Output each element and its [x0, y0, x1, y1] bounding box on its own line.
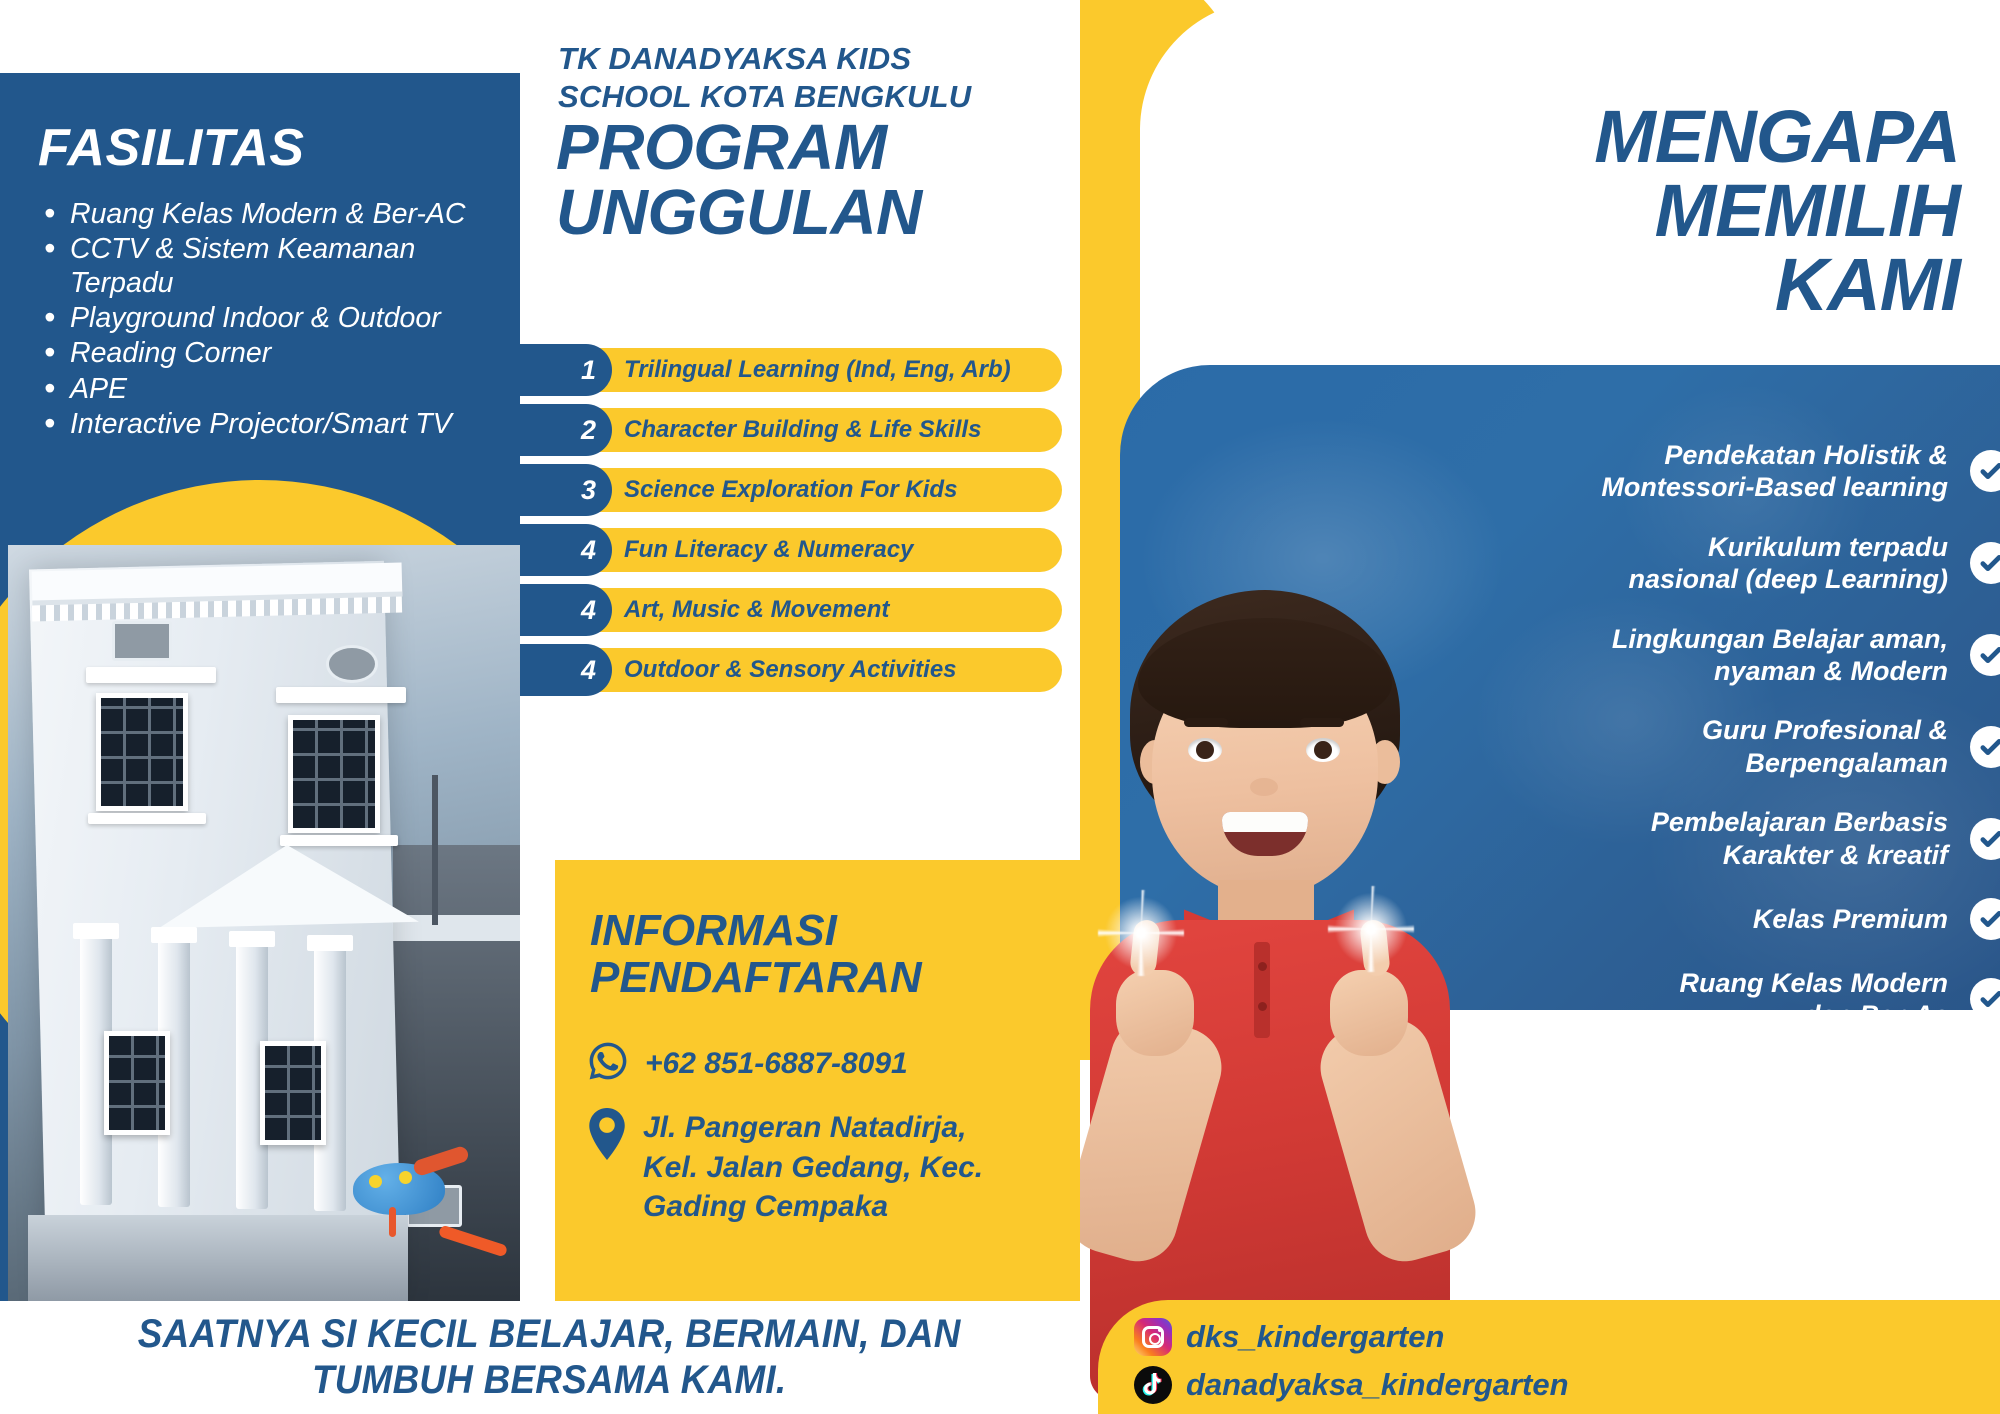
benefit-text: Ruang Kelas Modern dan Ber-Ac [1679, 967, 1948, 1010]
program-title-line-2: UNGGULAN [556, 180, 1076, 245]
address-row[interactable]: Jl. Pangeran Natadirja, Kel. Jalan Gedan… [587, 1108, 983, 1227]
child-teeth [1222, 812, 1308, 832]
address-line-2: Kel. Jalan Gedang, Kec. [643, 1151, 983, 1184]
child-hand-right [1330, 970, 1408, 1056]
benefit-text: Guru Profesional & Berpengalaman [1702, 714, 1948, 779]
phone-number: +62 851-6887-8091 [645, 1044, 908, 1084]
program-label: Character Building & Life Skills [624, 408, 981, 452]
why-title-line-3: KAMI [1160, 248, 1960, 322]
photo-pole [432, 775, 438, 925]
photo-window-sill-1 [88, 813, 206, 824]
photo-pediment [157, 842, 419, 928]
program-label: Fun Literacy & Numeracy [624, 528, 913, 572]
info-title-line-2: PENDAFTARAN [590, 955, 990, 1002]
child-eye-right [1306, 738, 1340, 762]
location-pin-icon [587, 1108, 627, 1165]
child-photo [1080, 590, 1570, 1400]
benefit-text: Kelas Premium [1753, 903, 1948, 935]
check-circle-icon [1970, 898, 2000, 940]
check-circle-icon [1970, 450, 2000, 492]
benefit-line-2: nyaman & Modern [1612, 655, 1948, 687]
benefit-text: Pembelajaran Berbasis Karakter & kreatif [1651, 806, 1948, 871]
program-number: 3 [520, 464, 612, 516]
program-number: 4 [520, 644, 612, 696]
photo-ac-unit-upper-left [112, 621, 172, 661]
address-line-3: Gading Cempaka [643, 1190, 888, 1223]
child-brow-left [1184, 718, 1228, 727]
address-line-1: Jl. Pangeran Natadirja, [643, 1111, 966, 1144]
school-name: TK DANADYAKSA KIDS SCHOOL KOTA BENGKULU [558, 40, 1028, 116]
benefit-text: Pendekatan Holistik & Montessori-Based l… [1601, 439, 1948, 504]
info-title-line-1: INFORMASI [590, 908, 990, 955]
photo-window-1 [96, 693, 188, 811]
photo-window-lintel-2 [276, 687, 406, 703]
child-shirt-button-1 [1258, 962, 1267, 971]
check-circle-icon [1970, 978, 2000, 1010]
program-row[interactable]: 4 Outdoor & Sensory Activities [520, 648, 1080, 692]
toy-dot-2 [399, 1171, 412, 1184]
program-title-line-1: PROGRAM [556, 115, 1076, 180]
child-eye-left [1188, 738, 1222, 762]
photo-column-capital-1 [73, 923, 119, 939]
program-row[interactable]: 2 Character Building & Life Skills [520, 408, 1080, 452]
social-media-bar: dks_kindergarten danadyaksa_kindergarten [1098, 1300, 2000, 1414]
benefit-row: Kurikulum terpadu nasional (deep Learnin… [1452, 531, 2000, 596]
toy-dot-1 [369, 1175, 382, 1188]
photo-ground-floor [28, 1215, 408, 1301]
child-nose [1250, 778, 1278, 796]
program-label: Science Exploration For Kids [624, 468, 957, 512]
photo-window-3 [104, 1031, 170, 1135]
program-number: 4 [520, 584, 612, 636]
why-choose-us-title: MENGAPA MEMILIH KAMI [1160, 100, 1960, 322]
instagram-icon [1134, 1318, 1172, 1356]
bottom-tagline-bar: SAATNYA SI KECIL BELAJAR, BERMAIN, DAN T… [0, 1301, 1098, 1414]
school-name-line-1: TK DANADYAKSA KIDS [558, 40, 1028, 78]
benefit-text: Kurikulum terpadu nasional (deep Learnin… [1628, 531, 1948, 596]
program-label: Art, Music & Movement [624, 588, 889, 632]
instagram-row[interactable]: dks_kindergarten [1134, 1318, 1444, 1356]
program-number: 2 [520, 404, 612, 456]
facility-item: Playground Indoor & Outdoor [38, 302, 490, 335]
tagline-line-2: TUMBUH BERSAMA KAMI. [138, 1358, 961, 1404]
facility-item: Interactive Projector/Smart TV [38, 408, 490, 441]
photo-window-2 [288, 715, 380, 833]
benefit-line-2: Berpengalaman [1702, 747, 1948, 779]
right-column: MENGAPA MEMILIH KAMI Pendekatan Holistik… [1080, 0, 2000, 1414]
phone-row[interactable]: +62 851-6887-8091 [587, 1040, 908, 1087]
program-row[interactable]: 4 Art, Music & Movement [520, 588, 1080, 632]
sparkle-left-icon [1098, 890, 1184, 976]
benefit-line-1: Lingkungan Belajar aman, [1612, 623, 1948, 655]
tiktok-handle: danadyaksa_kindergarten [1186, 1367, 1569, 1403]
sparkle-right-icon [1328, 886, 1414, 972]
check-circle-icon [1970, 542, 2000, 584]
why-title-line-1: MENGAPA [1160, 100, 1960, 174]
benefit-row: Pendekatan Holistik & Montessori-Based l… [1452, 439, 2000, 504]
photo-column-capital-3 [229, 931, 275, 947]
photo-window-lintel-1 [86, 667, 216, 683]
benefit-line-1: Guru Profesional & [1702, 714, 1948, 746]
child-shirt-button-2 [1258, 1002, 1267, 1011]
child-hand-left [1116, 970, 1194, 1056]
toy-stick [389, 1207, 396, 1237]
program-list: 1 Trilingual Learning (Ind, Eng, Arb) 2 … [520, 348, 1080, 708]
facilities-block: FASILITAS Ruang Kelas Modern & Ber-AC CC… [0, 73, 520, 443]
photo-column-capital-4 [307, 935, 353, 951]
benefit-line-2: Montessori-Based learning [1601, 471, 1948, 503]
facility-item: CCTV & Sistem Keamanan Terpadu [38, 233, 490, 300]
check-circle-icon [1970, 726, 2000, 768]
photo-ac-unit-upper-right [326, 645, 378, 683]
flyer-poster: FASILITAS Ruang Kelas Modern & Ber-AC CC… [0, 0, 2000, 1414]
registration-info-panel: INFORMASI PENDAFTARAN +62 851-6887-8091 [555, 860, 1080, 1301]
benefit-line-1: Kelas Premium [1753, 903, 1948, 935]
toy-wing [412, 1145, 470, 1178]
why-title-line-2: MEMILIH [1160, 174, 1960, 248]
facilities-title: FASILITAS [38, 118, 490, 178]
photo-playground-toy [353, 1145, 468, 1225]
program-number: 4 [520, 524, 612, 576]
program-row[interactable]: 3 Science Exploration For Kids [520, 468, 1080, 512]
benefit-line-2: dan Ber-Ac [1679, 999, 1948, 1010]
facilities-list: Ruang Kelas Modern & Ber-AC CCTV & Siste… [38, 198, 490, 441]
child-shirt-placket [1254, 942, 1270, 1038]
whatsapp-icon [587, 1040, 629, 1087]
benefit-line-1: Kurikulum terpadu [1628, 531, 1948, 563]
tagline-line-1: SAATNYA SI KECIL BELAJAR, BERMAIN, DAN [138, 1312, 961, 1358]
check-circle-icon [1970, 818, 2000, 860]
program-label: Trilingual Learning (Ind, Eng, Arb) [624, 348, 1011, 392]
center-column: TK DANADYAKSA KIDS SCHOOL KOTA BENGKULU … [520, 0, 1080, 1301]
facility-item: APE [38, 373, 490, 406]
photo-column-capital-2 [151, 927, 197, 943]
benefit-line-2: Karakter & kreatif [1651, 839, 1948, 871]
benefit-text: Lingkungan Belajar aman, nyaman & Modern [1612, 623, 1948, 688]
photo-window-4 [260, 1041, 326, 1145]
address-text: Jl. Pangeran Natadirja, Kel. Jalan Gedan… [643, 1108, 983, 1227]
left-column: FASILITAS Ruang Kelas Modern & Ber-AC CC… [0, 0, 520, 1301]
registration-info-title: INFORMASI PENDAFTARAN [590, 908, 990, 1001]
program-number: 1 [520, 344, 612, 396]
facility-item: Ruang Kelas Modern & Ber-AC [38, 198, 490, 231]
benefit-line-1: Pembelajaran Berbasis [1651, 806, 1948, 838]
facility-item: Reading Corner [38, 337, 490, 370]
benefit-line-1: Ruang Kelas Modern [1679, 967, 1948, 999]
child-brow-right [1300, 718, 1344, 727]
benefit-line-1: Pendekatan Holistik & [1601, 439, 1948, 471]
check-circle-icon [1970, 634, 2000, 676]
school-name-line-2: SCHOOL KOTA BENGKULU [558, 78, 1028, 116]
program-row[interactable]: 1 Trilingual Learning (Ind, Eng, Arb) [520, 348, 1080, 392]
benefit-line-2: nasional (deep Learning) [1628, 563, 1948, 595]
program-row[interactable]: 4 Fun Literacy & Numeracy [520, 528, 1080, 572]
tiktok-row[interactable]: danadyaksa_kindergarten [1134, 1366, 1569, 1404]
instagram-handle: dks_kindergarten [1186, 1319, 1444, 1355]
school-building-photo [8, 545, 520, 1301]
tiktok-icon [1134, 1366, 1172, 1404]
program-title: PROGRAM UNGGULAN [556, 115, 1076, 246]
tagline-text: SAATNYA SI KECIL BELAJAR, BERMAIN, DAN T… [138, 1312, 961, 1403]
program-label: Outdoor & Sensory Activities [624, 648, 957, 692]
